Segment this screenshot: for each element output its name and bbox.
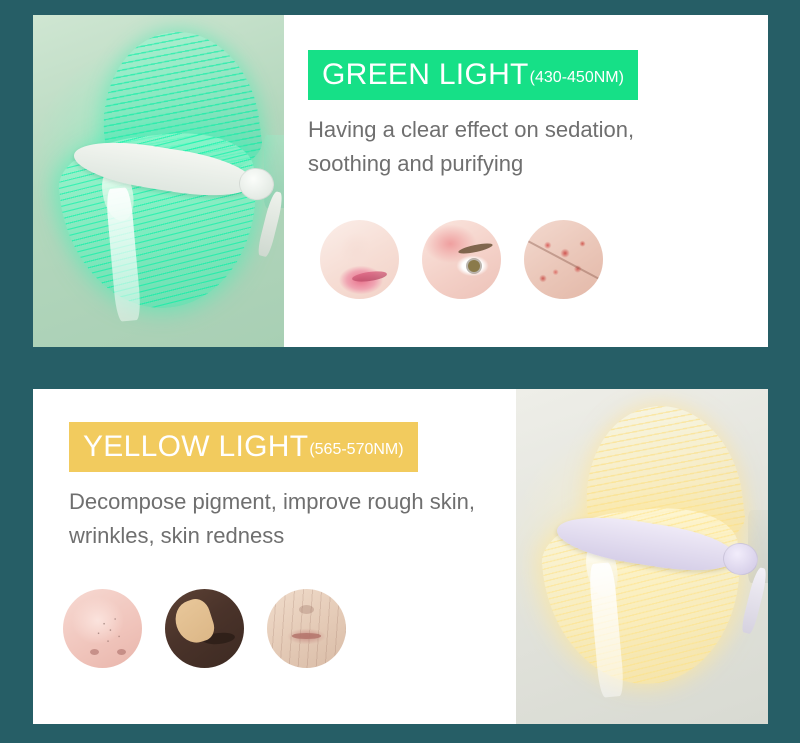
mask-temple-arm — [256, 190, 284, 257]
green-light-banner: GREEN LIGHT (430-450NM) — [308, 50, 638, 100]
photo-background — [33, 15, 284, 347]
yellow-skin-condition-images — [63, 589, 346, 668]
yellow-light-title: YELLOW LIGHT — [83, 432, 308, 462]
yellow-light-banner: YELLOW LIGHT (565-570NM) — [69, 422, 418, 472]
green-light-title: GREEN LIGHT — [322, 60, 529, 90]
green-mask-photo — [33, 15, 284, 347]
yellow-light-description: Decompose pigment, improve rough skin, w… — [69, 485, 489, 553]
circle-pigmentation-patch — [165, 589, 244, 668]
mask-temple-arm — [740, 566, 768, 634]
yellow-light-panel: YELLOW LIGHT (565-570NM) Decompose pigme… — [33, 389, 768, 724]
circle-acne-skin — [524, 220, 603, 299]
green-light-panel: GREEN LIGHT (430-450NM) Having a clear e… — [33, 15, 768, 347]
yellow-light-wavelength: (565-570NM) — [309, 442, 403, 458]
photo-background — [516, 389, 768, 724]
yellow-content: YELLOW LIGHT (565-570NM) Decompose pigme… — [33, 389, 516, 724]
circle-lips-closeup — [320, 220, 399, 299]
green-content: GREEN LIGHT (430-450NM) Having a clear e… — [284, 15, 768, 347]
circle-wrinkled-mouth — [267, 589, 346, 668]
circle-eye-redness — [422, 220, 501, 299]
yellow-mask-photo — [516, 389, 768, 724]
circle-blackhead-nose — [63, 589, 142, 668]
green-skin-condition-images — [320, 220, 603, 299]
green-light-wavelength: (430-450NM) — [530, 70, 624, 86]
green-light-description: Having a clear effect on sedation, sooth… — [308, 113, 708, 181]
